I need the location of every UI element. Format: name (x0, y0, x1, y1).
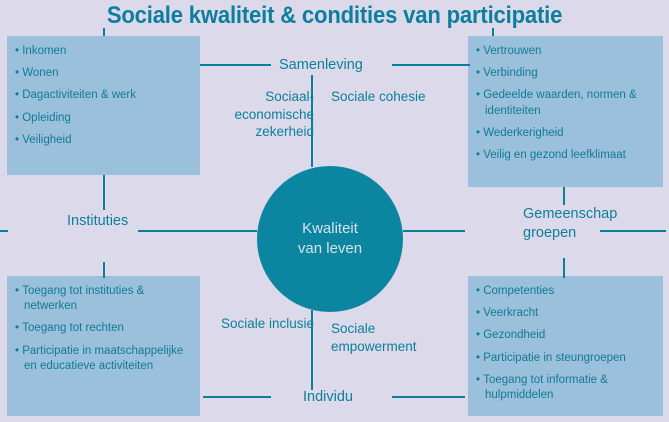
diagram-canvas: Sociale kwaliteit & condities van partic… (0, 0, 669, 422)
box-top-left-list: Inkomen Wonen Dagactiviteiten & werk Opl… (15, 44, 190, 148)
list-item: Participatie in maatschappelijke en educ… (15, 344, 190, 374)
axis-label-top: Samenleving (279, 56, 363, 75)
axis-label-right-line1: Gemeenschap (523, 205, 617, 224)
connector-line-vertical-bottom-left (103, 262, 105, 278)
list-item: Participatie in steungroepen (476, 351, 653, 366)
box-top-left: Inkomen Wonen Dagactiviteiten & werk Opl… (7, 36, 200, 175)
connector-line-left-mid (138, 230, 257, 232)
list-item: Gezondheid (476, 328, 653, 343)
list-item: Competenties (476, 284, 653, 299)
box-top-right-list: Vertrouwen Verbinding Gedeelde waarden, … (476, 44, 653, 163)
connector-line-top-left (203, 64, 271, 66)
axis-label-left: Instituties (67, 212, 128, 231)
list-item: Vertrouwen (476, 44, 653, 59)
connector-line-vertical-top-left-stub (103, 28, 105, 36)
list-item: Toegang tot instituties & netwerken (15, 284, 190, 314)
axis-label-right-line2: groepen (523, 224, 617, 243)
list-item: Inkomen (15, 44, 190, 59)
connector-stub-top-left (200, 64, 206, 66)
list-item: Veilig en gezond leefklimaat (476, 148, 653, 163)
quadrant-label-bottom-right: Sociale empowerment (331, 320, 441, 355)
quadrant-label-top-right: Sociale cohesie (331, 88, 451, 106)
list-item: Opleiding (15, 111, 190, 126)
list-item: Gedeelde waarden, normen & identiteiten (476, 88, 653, 118)
quadrant-label-top-left: Sociaal-economische zekerheid (222, 88, 314, 141)
connector-stub-top-right (462, 64, 470, 66)
box-bottom-left: Toegang tot instituties & netwerken Toeg… (7, 276, 200, 416)
center-circle-line1: Kwaliteit (298, 219, 362, 239)
connector-line-vertical-bottom-right (563, 258, 565, 278)
connector-line-bottom-left (203, 396, 271, 398)
connector-line-left-edge (0, 230, 8, 232)
center-circle-line2: van leven (298, 239, 362, 259)
box-bottom-left-list: Toegang tot instituties & netwerken Toeg… (15, 284, 190, 374)
connector-line-bottom-right (392, 396, 465, 398)
center-circle-label: Kwaliteit van leven (298, 219, 362, 260)
center-circle: Kwaliteit van leven (257, 166, 403, 312)
connector-line-vertical-top-right-stub (492, 28, 494, 36)
list-item: Wederkerigheid (476, 126, 653, 141)
box-top-right: Vertrouwen Verbinding Gedeelde waarden, … (468, 36, 663, 187)
list-item: Veiligheid (15, 133, 190, 148)
list-item: Toegang tot informatie & hulpmiddelen (476, 373, 653, 403)
list-item: Verbinding (476, 66, 653, 81)
box-bottom-right-list: Competenties Veerkracht Gezondheid Parti… (476, 284, 653, 403)
connector-line-top-right (392, 64, 465, 66)
connector-line-right-mid (403, 230, 465, 232)
connector-line-vertical-top-right (563, 187, 565, 205)
quadrant-label-bottom-left: Sociale inclusie (200, 315, 314, 333)
connector-line-vertical-top-left (103, 175, 105, 210)
list-item: Toegang tot rechten (15, 321, 190, 336)
box-bottom-right: Competenties Veerkracht Gezondheid Parti… (468, 276, 663, 416)
list-item: Dagactiviteiten & werk (15, 88, 190, 103)
list-item: Veerkracht (476, 306, 653, 321)
page-title: Sociale kwaliteit & condities van partic… (27, 2, 642, 30)
axis-label-right: Gemeenschap groepen (523, 205, 617, 243)
list-item: Wonen (15, 66, 190, 81)
axis-label-bottom: Individu (303, 388, 353, 407)
